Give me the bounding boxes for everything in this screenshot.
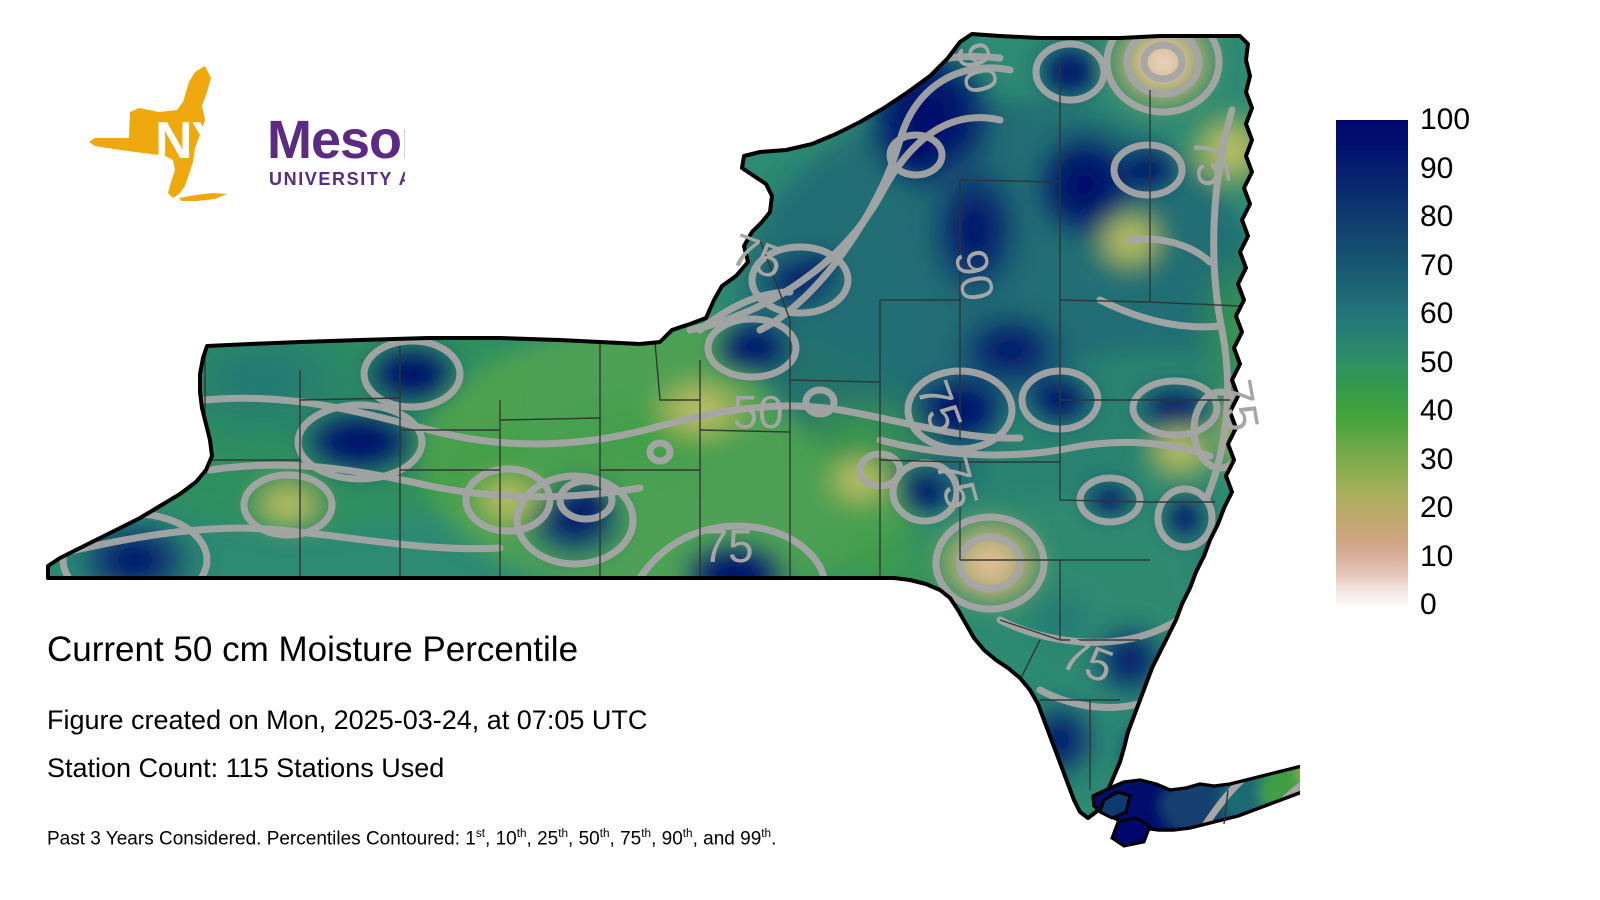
figure-created-line: Figure created on Mon, 2025-03-24, at 07… (47, 705, 647, 736)
colorbar-tick-60: 60 (1420, 299, 1453, 329)
contour-label: 75 (1210, 376, 1270, 435)
colorbar-tick-100: 100 (1420, 105, 1470, 135)
percentile-ordinal: th (517, 827, 527, 840)
colorbar (1336, 120, 1408, 605)
colorbar-tick-labels: 1009080706050403020100 (1420, 120, 1540, 605)
colorbar-tick-40: 40 (1420, 396, 1453, 426)
percentile-ordinal: th (761, 827, 771, 840)
colorbar-tick-30: 30 (1420, 445, 1453, 475)
contour-label: 75 (702, 520, 753, 572)
percentile-footnote: Past 3 Years Considered. Percentiles Con… (47, 827, 776, 850)
percentile-ordinal: th (558, 827, 568, 840)
colorbar-gradient (1336, 120, 1408, 605)
colorbar-tick-90: 90 (1420, 154, 1453, 184)
colorbar-tick-70: 70 (1420, 251, 1453, 281)
percentile-ordinal: th (600, 827, 610, 840)
percentile-ordinal: th (683, 827, 693, 840)
percentile-ordinal: th (641, 827, 651, 840)
colorbar-tick-0: 0 (1420, 590, 1437, 620)
percentile-value: 75 (620, 828, 641, 849)
colorbar-tick-20: 20 (1420, 493, 1453, 523)
percentile-value: 50 (579, 828, 600, 849)
percentile-value: 90 (662, 828, 683, 849)
colorbar-tick-50: 50 (1420, 348, 1453, 378)
percentile-value: 99 (740, 828, 761, 849)
percentile-value: 10 (496, 828, 517, 849)
colorbar-tick-10: 10 (1420, 542, 1453, 572)
station-count-line: Station Count: 115 Stations Used (47, 753, 444, 784)
percentile-ordinal: st (476, 827, 485, 840)
colorbar-tick-80: 80 (1420, 202, 1453, 232)
contour-label: 90 (945, 246, 1005, 305)
contour-label: 50 (732, 386, 783, 438)
percentile-value: 1 (465, 828, 476, 849)
percentile-value: 25 (537, 828, 558, 849)
page-title: Current 50 cm Moisture Percentile (47, 630, 578, 670)
contour-label: 75 (1183, 132, 1242, 190)
